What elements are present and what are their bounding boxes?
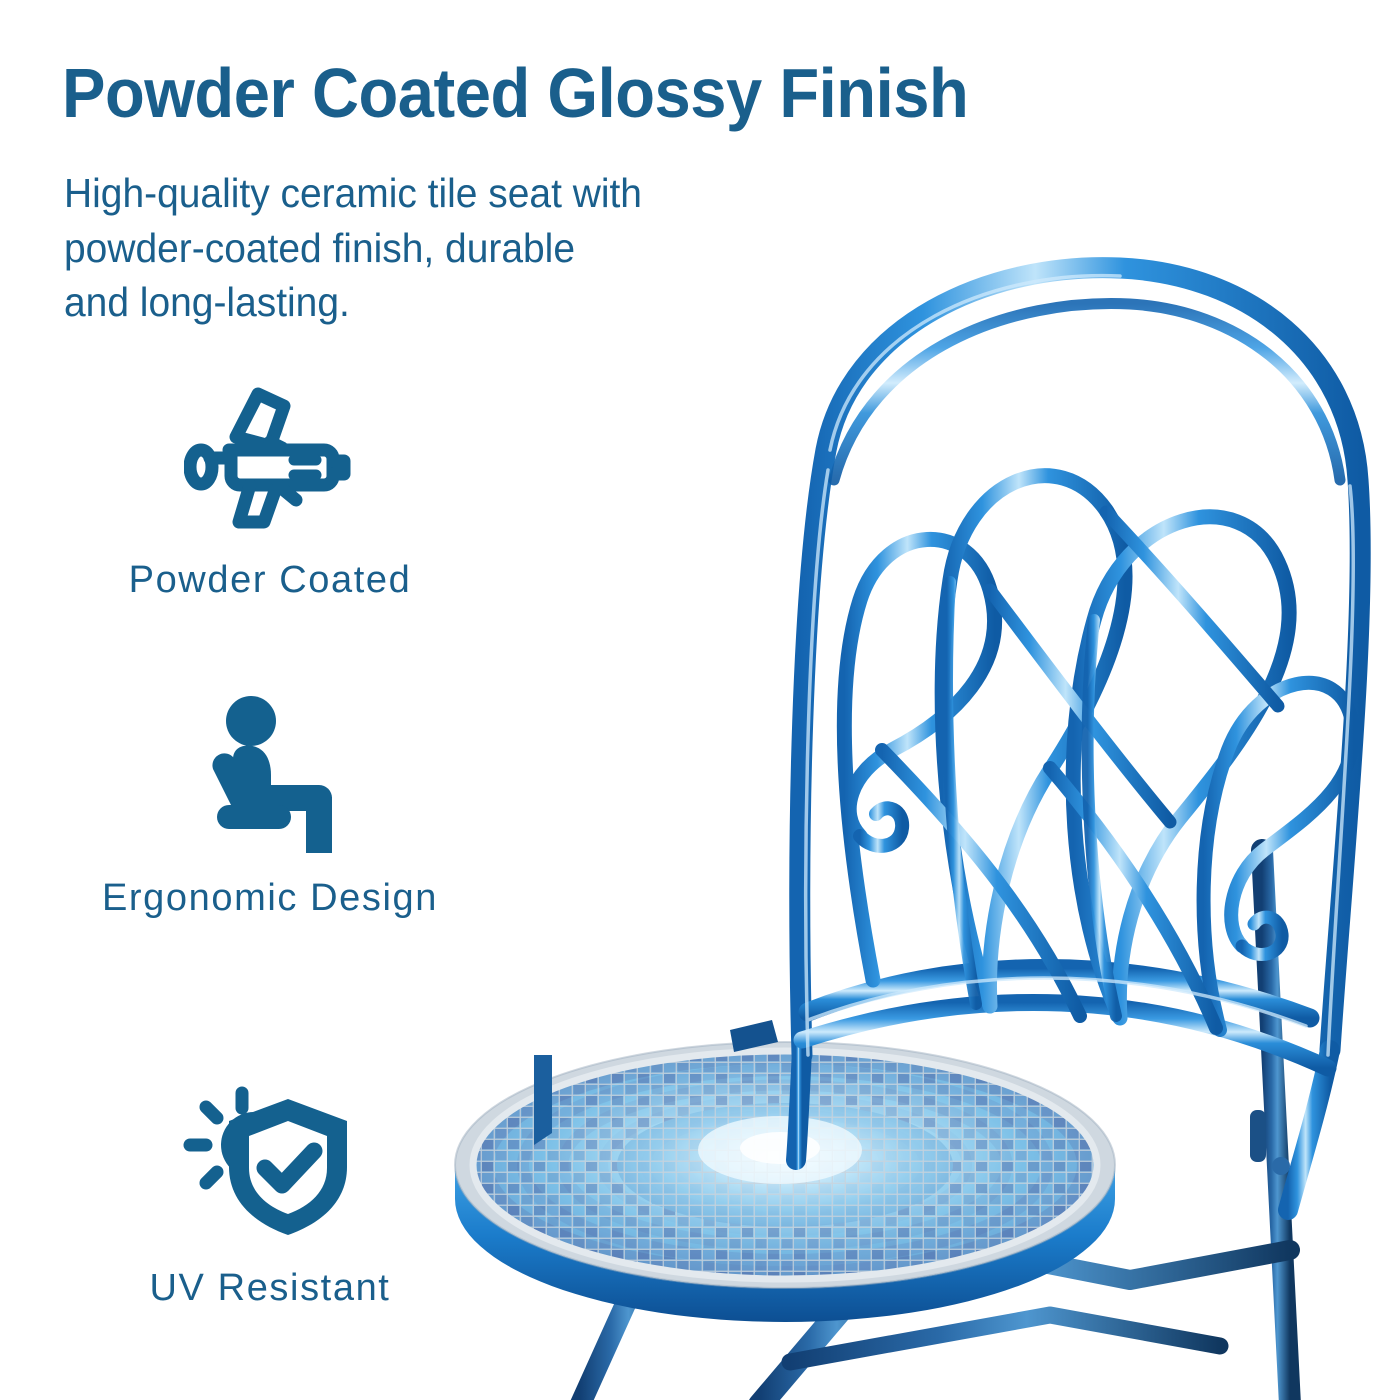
feature-item-uv-resistant: UV Resistant [60,1080,480,1310]
product-image-folding-bistro-chair [430,150,1400,1400]
feature-label: Powder Coated [60,559,480,602]
mosaic-seat [455,1042,1115,1322]
seated-person-icon [60,690,480,855]
feature-item-ergonomic-design: Ergonomic Design [60,690,480,920]
feature-label: Ergonomic Design [60,877,480,920]
feature-item-powder-coated: Powder Coated [60,372,480,602]
spray-gun-icon [60,372,480,537]
sun-shield-check-icon [60,1080,480,1245]
product-infographic-canvas: Powder Coated Glossy Finish High-quality… [0,0,1400,1400]
feature-label: UV Resistant [60,1267,480,1310]
page-title: Powder Coated Glossy Finish [62,58,1104,129]
